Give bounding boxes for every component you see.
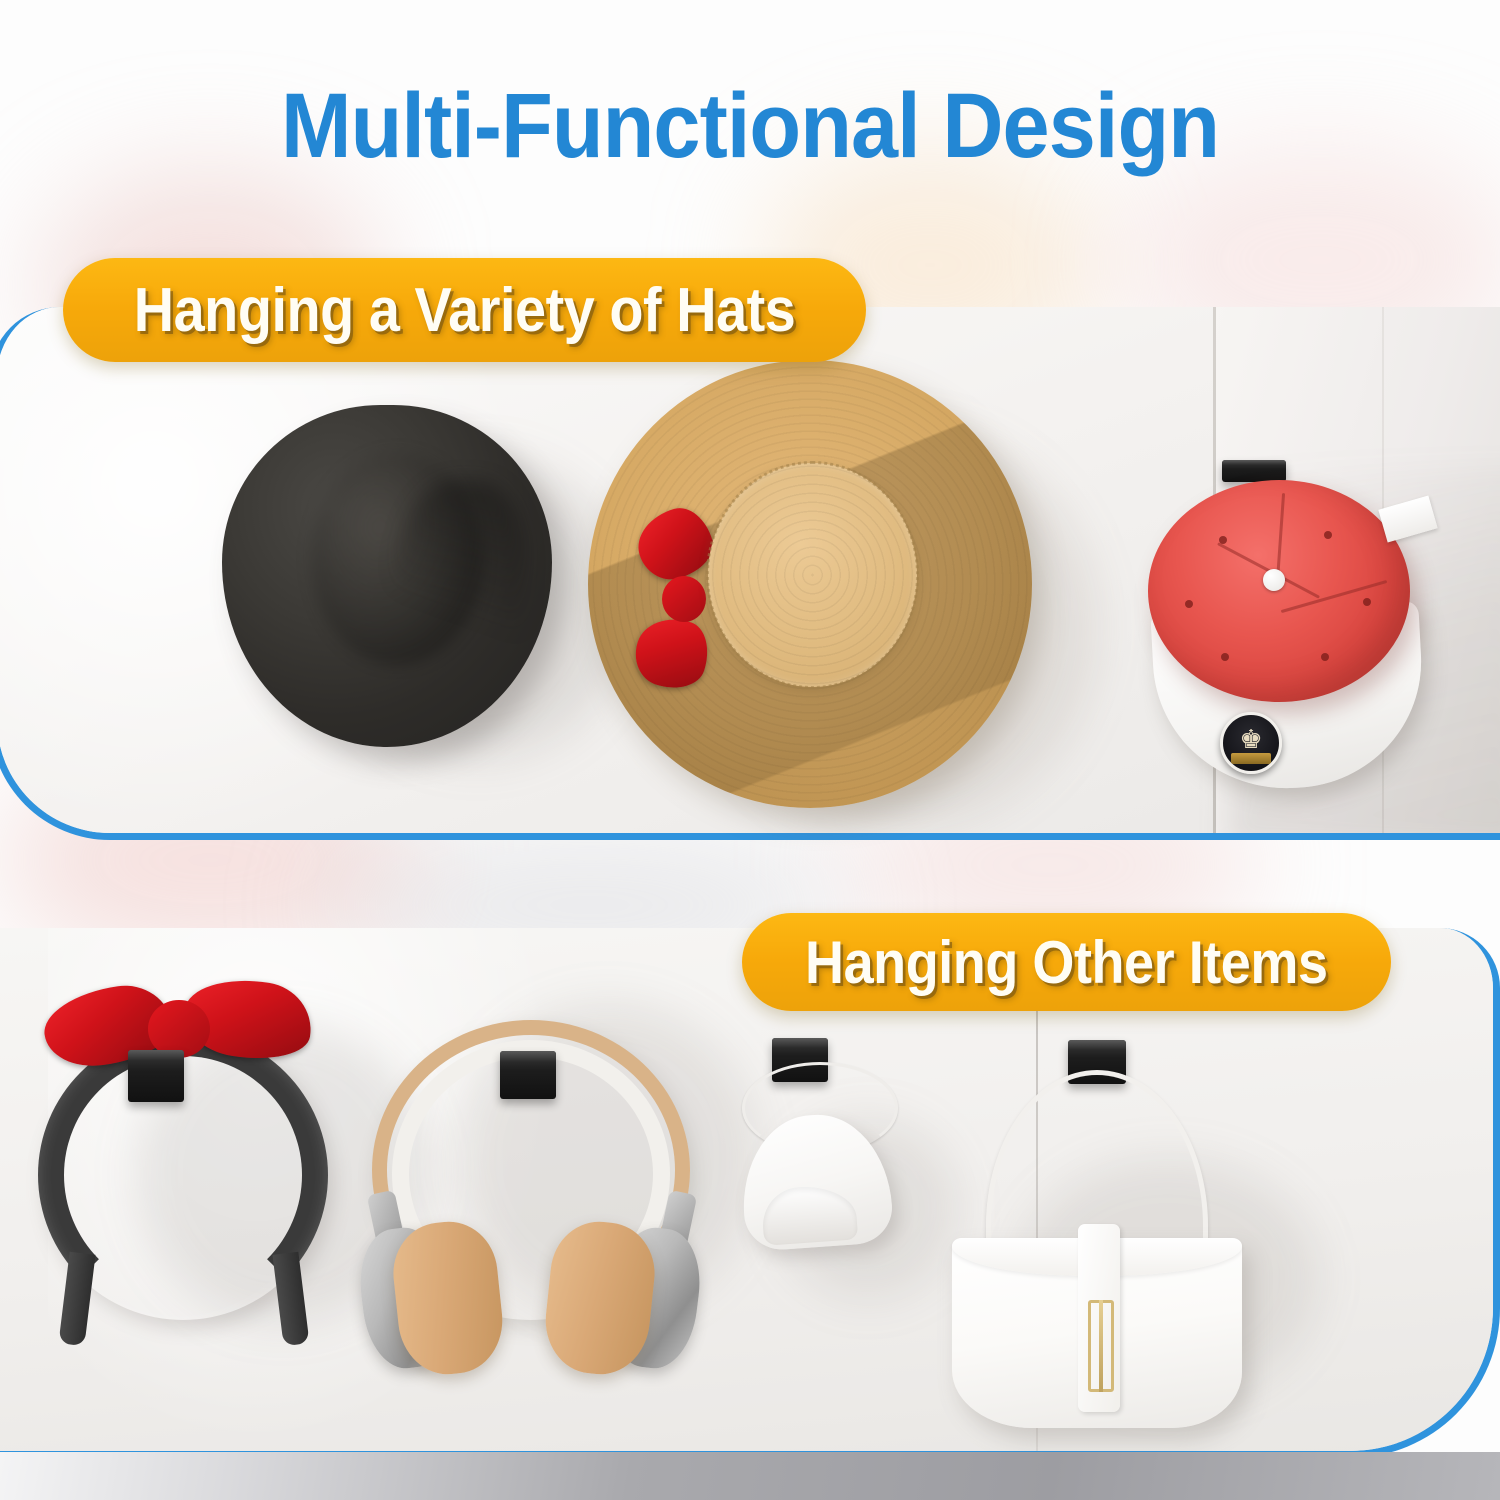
badge-hanging-other-items-label: Hanging Other Items bbox=[805, 928, 1328, 997]
emblem-ribbon bbox=[1231, 753, 1271, 764]
hat-band bbox=[706, 461, 919, 689]
mask-pleat bbox=[760, 1184, 858, 1246]
product-infographic: Multi-Functional Design bbox=[0, 0, 1500, 1500]
floor-strip bbox=[0, 1452, 1500, 1500]
tan-straw-sun-hat bbox=[588, 360, 1032, 808]
badge-hanging-hats-label: Hanging a Variety of Hats bbox=[134, 275, 796, 346]
hat-crease bbox=[394, 480, 526, 699]
lion-icon: ♚ bbox=[1239, 726, 1262, 752]
adhesive-wall-hook bbox=[500, 1051, 556, 1099]
white-shoulder-handbag bbox=[952, 1238, 1242, 1428]
lion-head-emblem-patch: ♚ bbox=[1220, 712, 1282, 774]
page-title: Multi-Functional Design bbox=[60, 78, 1440, 174]
adhesive-wall-hook bbox=[1222, 460, 1286, 482]
badge-hanging-hats: Hanging a Variety of Hats bbox=[63, 258, 866, 362]
adhesive-wall-hook bbox=[128, 1050, 184, 1102]
cap-top-button bbox=[1263, 569, 1285, 591]
badge-hanging-other-items: Hanging Other Items bbox=[742, 913, 1391, 1011]
handbag-gold-buckle-bar bbox=[1099, 1300, 1103, 1392]
red-baseball-cap bbox=[1148, 480, 1410, 702]
